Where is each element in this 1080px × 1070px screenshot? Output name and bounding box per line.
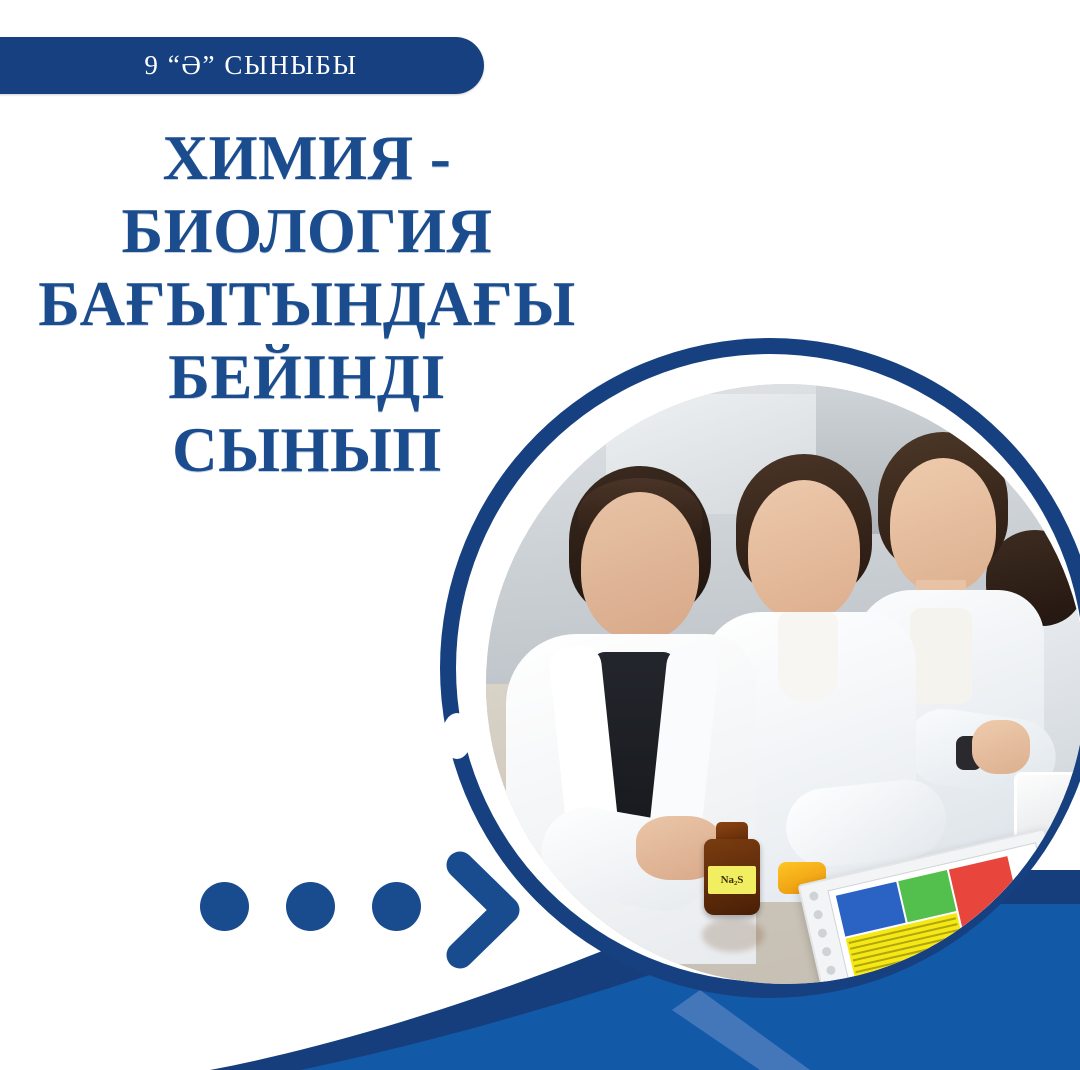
photo-student-3-shirt [910,608,972,704]
ring-notch [442,713,472,759]
photo-inner-border: Na₂S [456,354,1080,982]
periodic-block-yellow-2 [964,922,1041,984]
photo-bottle-reflection [702,918,764,952]
photo-student-2-collar [778,612,838,702]
photo-student-2-head [748,480,860,620]
photo-bottle-label: Na₂S [708,866,756,894]
periodic-block-red [949,856,1022,934]
class-badge-label: 9 “Ә” СЫНЫБЫ [110,50,357,81]
title-line-2: БИОЛОГИЯ [12,195,602,268]
classroom-photo: Na₂S [486,384,1080,984]
photo-student-3-head [890,458,996,592]
photo-student-3-hand [972,720,1030,774]
poster-canvas: 9 “Ә” СЫНЫБЫ ХИМИЯ - БИОЛОГИЯ БАҒЫТЫНДАҒ… [0,0,1080,1070]
title-line-3: БАҒЫТЫНДАҒЫ [12,268,602,341]
title-line-1: ХИМИЯ - [12,122,602,195]
class-badge: 9 “Ә” СЫНЫБЫ [0,37,484,94]
photo-student-1-head [581,492,699,640]
photo-ring: Na₂S [440,338,1080,998]
